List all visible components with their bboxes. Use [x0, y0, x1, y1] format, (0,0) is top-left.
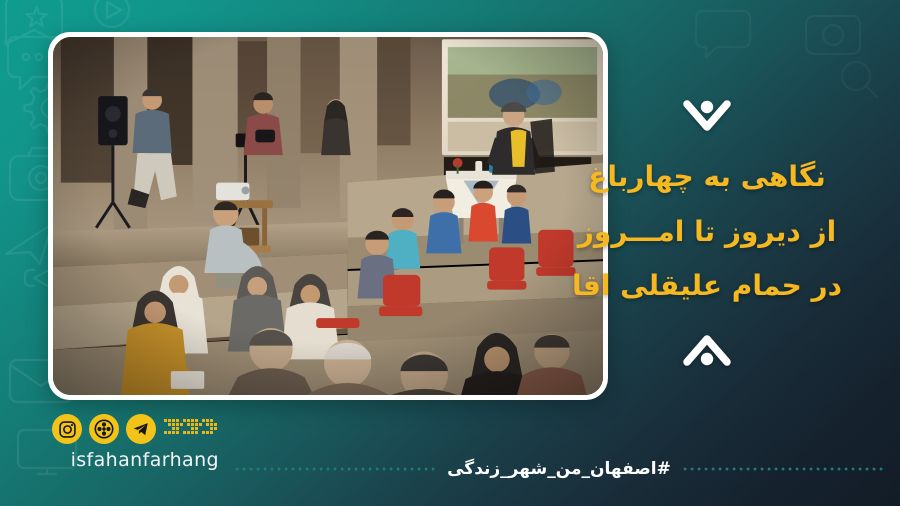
brand-row	[52, 414, 219, 444]
footer-bar: isfahanfarhang #اصفهان_من_شهر_زندگی	[0, 406, 900, 506]
headline-line-2: از دیروز تا امـــروز	[542, 211, 872, 254]
headline-line-1: نگاهی به چهارباغ	[542, 156, 872, 199]
photo-card	[48, 32, 608, 400]
search-icon	[842, 62, 877, 97]
camera-icon	[806, 16, 860, 54]
chevron-up-person-icon	[542, 332, 872, 366]
play-button-icon	[95, 0, 129, 27]
isfahanfarhang-logo-mark	[163, 414, 219, 444]
instagram-icon[interactable]	[52, 414, 82, 444]
hashtag-label[interactable]: #اصفهان_من_شهر_زندگی	[447, 459, 671, 479]
chat-bubble-icon	[696, 11, 750, 57]
telegram-icon[interactable]	[126, 414, 156, 444]
poster-root: نگاهی به چهارباغ از دیروز تا امـــروز در…	[0, 0, 900, 506]
aparat-icon[interactable]	[89, 414, 119, 444]
hashtag-row: #اصفهان_من_شهر_زندگی	[0, 454, 900, 484]
dotted-rule-right	[680, 467, 886, 471]
headline-line-3: در حمام علیقلی اقا	[542, 265, 872, 308]
dotted-rule-left	[232, 467, 438, 471]
chevron-down-person-icon	[542, 100, 872, 134]
headline-block: نگاهی به چهارباغ از دیروز تا امـــروز در…	[542, 100, 872, 366]
rocket-icon	[6, 224, 52, 264]
headline-text: نگاهی به چهارباغ از دیروز تا امـــروز در…	[542, 156, 872, 308]
lecture-audience-photo	[53, 37, 603, 395]
